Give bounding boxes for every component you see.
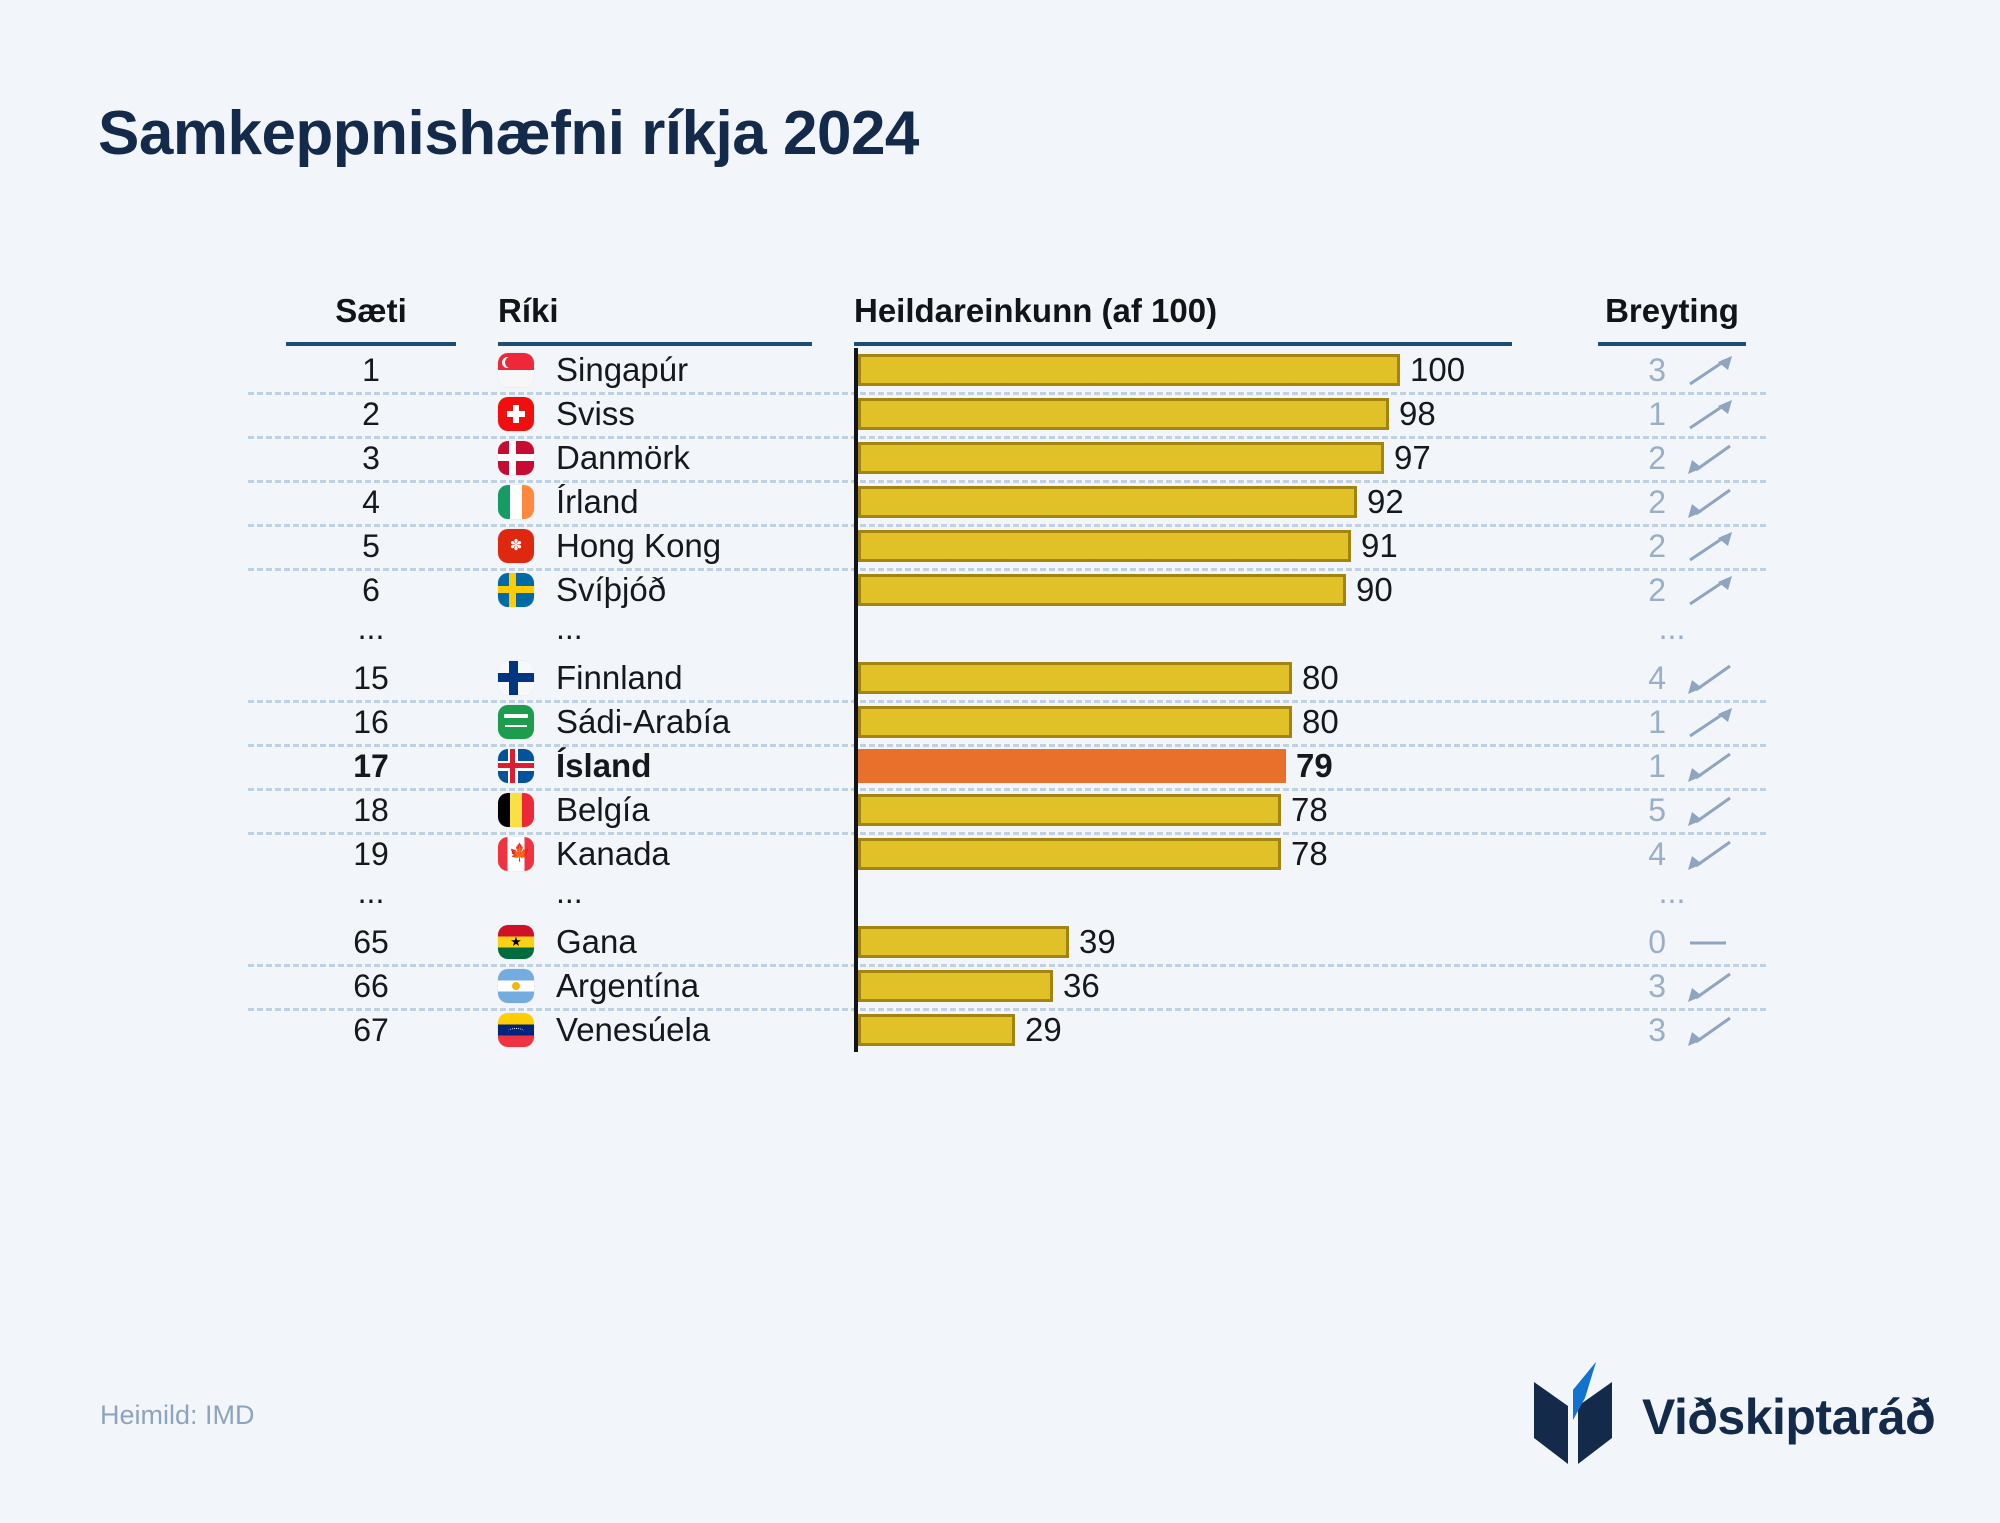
row-country-name: Sviss: [556, 394, 635, 434]
change-value: 1: [1598, 394, 1666, 434]
change-arrow-down-icon: [1682, 1014, 1738, 1048]
column-header-country: Ríki: [498, 292, 559, 330]
table-row[interactable]: 1Singapúr1003: [286, 348, 1746, 392]
table-row[interactable]: 66Argentína363: [286, 964, 1746, 1008]
change-arrow-down-icon: [1682, 442, 1738, 476]
ellipsis-country: ...: [556, 608, 583, 648]
row-country-name: Írland: [556, 482, 639, 522]
row-divider: [248, 788, 1766, 791]
table-row[interactable]: 17Ísland791: [286, 744, 1746, 788]
row-rank: 67: [286, 1010, 456, 1050]
change-value: 2: [1598, 482, 1666, 522]
row-country-name: Finnland: [556, 658, 683, 698]
row-rank: 17: [286, 746, 456, 786]
score-value: 91: [1361, 526, 1398, 566]
flag-icon-ve: [498, 1013, 534, 1047]
table-row[interactable]: 2Sviss981: [286, 392, 1746, 436]
score-bar: [858, 970, 1053, 1002]
row-divider: [248, 744, 1766, 747]
change-arrow-flat-icon: [1682, 926, 1738, 960]
change-value: 3: [1598, 350, 1666, 390]
ranking-table: Sæti Ríki Heildareinkunn (af 100) Breyti…: [286, 288, 1746, 1052]
header-rule-rank: [286, 342, 456, 346]
change-arrow-down-icon: [1682, 750, 1738, 784]
row-divider: [248, 480, 1766, 483]
row-country-name: Belgía: [556, 790, 650, 830]
table-row[interactable]: 67Venesúela293: [286, 1008, 1746, 1052]
column-header-change: Breyting: [1598, 292, 1746, 330]
row-country-name: Sádi-Arabía: [556, 702, 730, 742]
page-title: Samkeppnishæfni ríkja 2024: [98, 98, 919, 169]
table-row[interactable]: 65★Gana390: [286, 920, 1746, 964]
row-divider: [248, 436, 1766, 439]
score-value: 80: [1302, 658, 1339, 698]
row-divider: [248, 392, 1766, 395]
change-value: 1: [1598, 702, 1666, 742]
table-row[interactable]: 15Finnland804: [286, 656, 1746, 700]
table-row[interactable]: 6Svíþjóð902: [286, 568, 1746, 612]
flag-icon-se: [498, 573, 534, 607]
change-value: 4: [1598, 658, 1666, 698]
score-bar: [858, 354, 1400, 386]
ellipsis-rank: ...: [286, 872, 456, 912]
ellipsis-change: ...: [1598, 608, 1746, 648]
score-bar: [858, 794, 1281, 826]
table-row[interactable]: 3Danmörk972: [286, 436, 1746, 480]
row-rank: 4: [286, 482, 456, 522]
score-bar: [858, 926, 1069, 958]
value-axis-line: [854, 348, 858, 1052]
score-value: 36: [1063, 966, 1100, 1006]
score-bar: [858, 398, 1389, 430]
score-value: 78: [1291, 790, 1328, 830]
flag-icon-fi: [498, 661, 534, 695]
flag-icon-be: [498, 793, 534, 827]
score-bar: [858, 706, 1292, 738]
table-row[interactable]: 16Sádi-Arabía801: [286, 700, 1746, 744]
row-country-name: Ísland: [556, 746, 651, 786]
change-value: 0: [1598, 922, 1666, 962]
score-bar: [858, 574, 1346, 606]
score-bar: [858, 749, 1286, 783]
row-divider: [248, 700, 1766, 703]
brand-logo: Viðskiptaráð: [1530, 1360, 1935, 1473]
score-value: 78: [1291, 834, 1328, 874]
table-row-ellipsis: .........: [286, 876, 1746, 920]
row-country-name: Svíþjóð: [556, 570, 666, 610]
score-value: 90: [1356, 570, 1393, 610]
change-arrow-down-icon: [1682, 662, 1738, 696]
table-row[interactable]: 18Belgía785: [286, 788, 1746, 832]
table-body: 1Singapúr10032Sviss9813Danmörk9724Írland…: [286, 348, 1746, 1052]
score-value: 29: [1025, 1010, 1062, 1050]
flag-icon-sa: [498, 705, 534, 739]
flag-icon-gh: ★: [498, 925, 534, 959]
row-rank: 15: [286, 658, 456, 698]
score-bar: [858, 530, 1351, 562]
row-country-name: Danmörk: [556, 438, 690, 478]
change-arrow-up-icon: [1682, 398, 1738, 432]
flag-icon-sg: [498, 353, 534, 387]
row-country-name: Argentína: [556, 966, 699, 1006]
change-arrow-up-icon: [1682, 530, 1738, 564]
row-rank: 16: [286, 702, 456, 742]
table-row-ellipsis: .........: [286, 612, 1746, 656]
flag-icon-is: [498, 749, 534, 783]
change-arrow-down-icon: [1682, 794, 1738, 828]
flag-icon-ca: 🍁: [498, 837, 534, 871]
change-arrow-down-icon: [1682, 486, 1738, 520]
table-header-row: Sæti Ríki Heildareinkunn (af 100) Breyti…: [286, 288, 1746, 346]
table-row[interactable]: 4Írland922: [286, 480, 1746, 524]
change-value: 2: [1598, 570, 1666, 610]
ellipsis-rank: ...: [286, 608, 456, 648]
change-value: 3: [1598, 1010, 1666, 1050]
row-divider: [248, 964, 1766, 967]
header-rule-country: [498, 342, 812, 346]
row-rank: 3: [286, 438, 456, 478]
row-country-name: Gana: [556, 922, 637, 962]
score-value: 79: [1296, 746, 1333, 786]
row-rank: 19: [286, 834, 456, 874]
flag-icon-ch: [498, 397, 534, 431]
score-bar: [858, 486, 1357, 518]
change-arrow-down-icon: [1682, 838, 1738, 872]
row-country-name: Hong Kong: [556, 526, 721, 566]
header-rule-change: [1598, 342, 1746, 346]
column-header-score: Heildareinkunn (af 100): [854, 292, 1217, 330]
change-value: 3: [1598, 966, 1666, 1006]
row-divider: [248, 832, 1766, 835]
leaf-logo-icon: [1530, 1360, 1616, 1473]
score-value: 80: [1302, 702, 1339, 742]
row-rank: 5: [286, 526, 456, 566]
flag-icon-ar: [498, 969, 534, 1003]
score-bar: [858, 1014, 1015, 1046]
row-rank: 65: [286, 922, 456, 962]
row-country-name: Kanada: [556, 834, 670, 874]
row-rank: 18: [286, 790, 456, 830]
logo-wordmark: Viðskiptaráð: [1642, 1388, 1935, 1446]
flag-icon-hk: ✽: [498, 529, 534, 563]
change-value: 2: [1598, 438, 1666, 478]
column-header-rank: Sæti: [286, 292, 456, 330]
row-rank: 2: [286, 394, 456, 434]
score-bar: [858, 838, 1281, 870]
row-rank: 6: [286, 570, 456, 610]
ellipsis-country: ...: [556, 872, 583, 912]
change-arrow-up-icon: [1682, 706, 1738, 740]
score-value: 98: [1399, 394, 1436, 434]
row-country-name: Singapúr: [556, 350, 688, 390]
score-bar: [858, 442, 1384, 474]
table-row[interactable]: 5✽Hong Kong912: [286, 524, 1746, 568]
score-value: 97: [1394, 438, 1431, 478]
change-value: 5: [1598, 790, 1666, 830]
score-value: 92: [1367, 482, 1404, 522]
row-divider: [248, 568, 1766, 571]
row-divider: [248, 1008, 1766, 1011]
score-value: 100: [1410, 350, 1465, 390]
row-country-name: Venesúela: [556, 1010, 710, 1050]
row-rank: 66: [286, 966, 456, 1006]
score-bar: [858, 662, 1292, 694]
table-row[interactable]: 19🍁Kanada784: [286, 832, 1746, 876]
score-value: 39: [1079, 922, 1116, 962]
source-note: Heimild: IMD: [100, 1400, 255, 1431]
change-arrow-up-icon: [1682, 354, 1738, 388]
header-rule-score: [854, 342, 1512, 346]
change-arrow-down-icon: [1682, 970, 1738, 1004]
flag-icon-ie: [498, 485, 534, 519]
row-divider: [248, 524, 1766, 527]
change-arrow-up-icon: [1682, 574, 1738, 608]
change-value: 4: [1598, 834, 1666, 874]
flag-icon-dk: [498, 441, 534, 475]
ellipsis-change: ...: [1598, 872, 1746, 912]
change-value: 2: [1598, 526, 1666, 566]
row-rank: 1: [286, 350, 456, 390]
change-value: 1: [1598, 746, 1666, 786]
